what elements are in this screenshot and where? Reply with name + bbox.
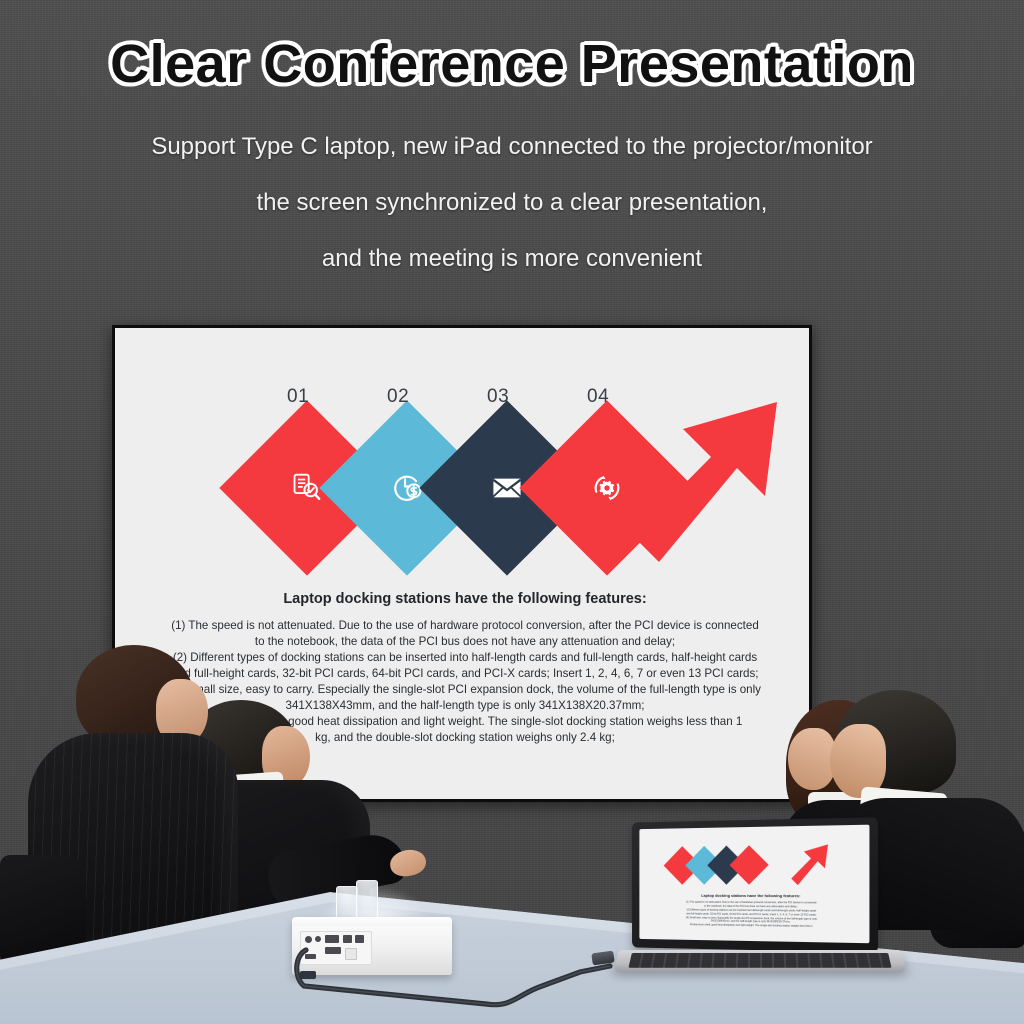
headings-block: Clear Conference Presentation Support Ty… xyxy=(0,0,1024,271)
slide-body-line: and full-height cards, 32-bit PCI cards,… xyxy=(143,666,787,682)
face xyxy=(788,728,836,790)
subtitle-line-3: and the meeting is more convenient xyxy=(0,247,1024,271)
laptop-lid: Laptop docking stations have the followi… xyxy=(632,817,878,953)
growth-arrow-icon xyxy=(756,829,844,893)
laptop-slide-diagram xyxy=(663,836,841,892)
slide-heading: Laptop docking stations have the followi… xyxy=(115,591,809,607)
subtitle-line-2: the screen synchronized to a clear prese… xyxy=(0,191,1024,215)
laptop-keyboard[interactable] xyxy=(628,953,891,968)
laptop-slide-body: (1) The speed is not attenuated. Due to … xyxy=(652,900,854,929)
slide-diagram: 01 02 03 04 xyxy=(115,346,809,591)
step-number-4: 04 xyxy=(587,386,609,408)
step-number-3: 03 xyxy=(487,386,509,408)
page-title: Clear Conference Presentation xyxy=(0,36,1024,93)
projector-top-panel xyxy=(292,917,452,926)
slide-body-line: (4) Small size, easy to carry. Especiall… xyxy=(143,682,787,698)
laptop-screen: Laptop docking stations have the followi… xyxy=(639,825,869,944)
step-number-1: 01 xyxy=(287,386,309,408)
slide-body-line: (1) The speed is not attenuated. Due to … xyxy=(143,618,787,634)
slide-body-line: (2) Different types of docking stations … xyxy=(143,650,787,666)
laptop[interactable]: Laptop docking stations have the followi… xyxy=(616,820,906,1000)
subtitle-line-1: Support Type C laptop, new iPad connecte… xyxy=(0,135,1024,159)
slide-body-line: to the notebook, the data of the PCI bus… xyxy=(143,634,787,650)
laptop-base[interactable] xyxy=(613,950,907,972)
step-number-2: 02 xyxy=(387,386,409,408)
laptop-slide-heading: Laptop docking stations have the followi… xyxy=(639,893,869,899)
gear-refresh-icon xyxy=(590,471,624,505)
